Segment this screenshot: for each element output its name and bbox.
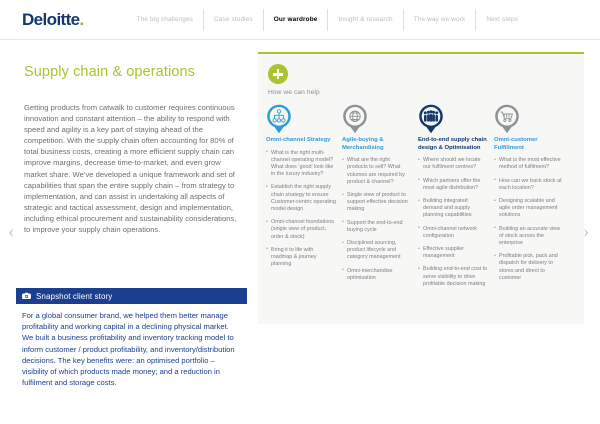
bullet-item: Omni-channel foundations (single view of… [266,219,336,241]
logo-dot: . [80,10,84,29]
carousel-prev-arrow-icon[interactable]: ‹ [8,222,14,241]
snapshot-client-story: Snapshot client story For a global consu… [16,288,247,396]
capability-column-omni-customer-fulfillment[interactable]: Omni-customer Fulfillment What is the mo… [494,104,570,294]
bullet-item: Where should we locate our fulfilment ce… [418,157,488,171]
nav-item-next-steps[interactable]: Next steps [475,9,528,31]
camera-icon [22,292,31,300]
bullet-item: Effective supplier management [418,246,488,260]
plus-icon-wrap [268,64,288,84]
column-bullets: Where should we locate our fulfilment ce… [418,157,488,288]
bullet-item: Designing scalable and agile order manag… [494,198,564,220]
bullet-item: Which partners offer the most agile dist… [418,178,488,192]
deloitte-logo[interactable]: Deloitte. [22,10,84,30]
capability-column-end-to-end-supply-chain[interactable]: End-to-end supply chain design & Optimis… [418,104,494,294]
bullet-item: Support the end-to-end buying cycle [342,220,412,234]
snapshot-heading: Snapshot client story [36,292,112,301]
people-pin-icon [418,104,488,134]
bullet-item: How can we track stock at each location? [494,178,564,192]
capability-columns: Omni-channel Strategy What is the right … [266,104,578,294]
column-bullets: What are the right products to sell? Wha… [342,157,412,282]
nav-item-our-wardrobe[interactable]: Our wardrobe [263,9,328,31]
plus-circle-icon[interactable] [268,64,288,84]
bullet-item: What are the right products to sell? Wha… [342,157,412,186]
how-we-can-help-panel: How we can help [258,52,584,324]
globe-pin-icon [342,104,412,134]
intro-paragraph: Getting products from catwalk to custome… [24,102,240,235]
snapshot-header: Snapshot client story [16,288,247,304]
shopping-cart-pin-icon [494,104,564,134]
bullet-item: Omni-channel network configuration [418,226,488,240]
bullet-item: Omni-merchandise optimisation [342,268,412,282]
bullet-item: Bring it to life with roadmap & journey … [266,247,336,269]
bullet-item: Disciplined sourcing, product lifecycle … [342,240,412,262]
bullet-item: Establish the right supply chain strateg… [266,184,336,213]
how-we-can-help-label: How we can help [268,89,320,96]
bullet-item: What is the right multi-channel operatin… [266,150,336,179]
nav-item-insight-research[interactable]: Insight & research [327,9,402,31]
bullet-item: Building end-to-end cost to serve visibi… [418,266,488,288]
column-title: Omni-channel Strategy [266,137,336,145]
capability-column-agile-buying-merchandising[interactable]: Agile-buying & Merchandising What are th… [342,104,418,294]
snapshot-body-text: For a global consumer brand, we helped t… [16,304,247,396]
column-title: End-to-end supply chain design & Optimis… [418,137,488,152]
nav-item-case-studies[interactable]: Case studies [203,9,263,31]
column-title: Agile-buying & Merchandising [342,137,412,152]
main-nav: The big challenges Case studies Our ward… [137,9,528,31]
logo-wordmark: Deloitte [22,10,80,29]
site-header: Deloitte. The big challenges Case studie… [0,0,600,40]
nav-item-the-way-we-work[interactable]: The way we work [403,9,476,31]
carousel-next-arrow-icon[interactable]: › [583,222,589,241]
column-bullets: What is the most effective method of ful… [494,157,564,282]
capability-column-omni-channel-strategy[interactable]: Omni-channel Strategy What is the right … [266,104,342,294]
slide-page: Deloitte. The big challenges Case studie… [0,0,600,424]
bullet-item: Single view of product to support effect… [342,192,412,214]
left-content-column: Supply chain & operations Getting produc… [0,40,258,424]
bullet-item: Building integrated demand and supply pl… [418,198,488,220]
column-title: Omni-customer Fulfillment [494,137,564,152]
org-chart-pin-icon [266,104,336,134]
bullet-item: Profitable pick, pack and dispatch for d… [494,253,564,282]
column-bullets: What is the right multi-channel operatin… [266,150,336,269]
nav-item-the-big-challenges[interactable]: The big challenges [137,9,203,31]
bullet-item: What is the most effective method of ful… [494,157,564,171]
page-title: Supply chain & operations [24,64,195,80]
bullet-item: Building an accurate view of stock acros… [494,226,564,248]
